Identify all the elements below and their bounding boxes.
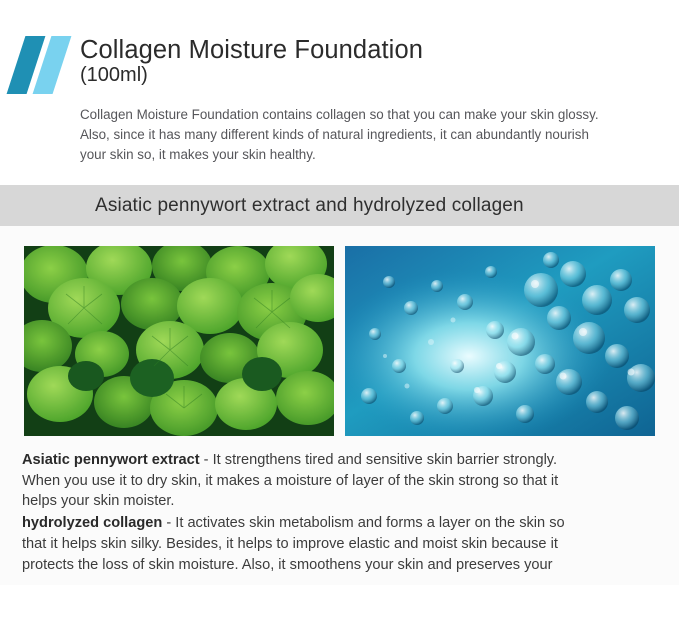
ingredient-line: It activates skin metabolism and forms a…	[175, 515, 564, 531]
ingredient-line: that it helps skin silky. Besides, it he…	[22, 534, 667, 555]
water-bubbles-photo	[345, 246, 655, 436]
ingredient-description-collagen: hydrolyzed collagen - It activates skin …	[22, 513, 667, 575]
asiatic-pennywort-leaves-photo	[24, 246, 334, 436]
product-volume: (100ml)	[80, 64, 659, 87]
section-banner: Asiatic pennywort extract and hydrolyzed…	[0, 185, 679, 226]
ingredient-term: hydrolyzed collagen	[22, 515, 162, 531]
ingredient-line: helps your skin moister.	[22, 491, 667, 512]
ingredient-line: It strengthens tired and sensitive skin …	[213, 452, 557, 468]
title-block: Collagen Moisture Foundation (100ml)	[80, 36, 659, 87]
intro-line: Also, since it has many different kinds …	[80, 125, 665, 145]
image-row	[0, 246, 679, 436]
detail-line: Asiatic pennywort extract - It strengthe…	[22, 450, 667, 471]
ingredient-line: When you use it to dry skin, it makes a …	[22, 471, 667, 492]
intro-line: Collagen Moisture Foundation contains co…	[80, 105, 665, 125]
content-panel: Asiatic pennywort extract - It strengthe…	[0, 226, 679, 585]
ingredient-description-pennywort: Asiatic pennywort extract - It strengthe…	[22, 450, 667, 512]
intro-line: your skin so, it makes your skin healthy…	[80, 145, 665, 165]
ingredient-line: protects the loss of skin moisture. Also…	[22, 555, 667, 576]
ingredient-term: Asiatic pennywort extract	[22, 452, 200, 468]
brand-logo-icon	[8, 36, 70, 94]
ingredient-separator: -	[200, 452, 213, 468]
detail-line: hydrolyzed collagen - It activates skin …	[22, 513, 667, 534]
page-header: Collagen Moisture Foundation (100ml) Col…	[0, 0, 679, 185]
intro-paragraph: Collagen Moisture Foundation contains co…	[80, 105, 665, 164]
page-title: Collagen Moisture Foundation	[80, 36, 659, 65]
section-banner-title: Asiatic pennywort extract and hydrolyzed…	[95, 195, 524, 217]
ingredient-descriptions: Asiatic pennywort extract - It strengthe…	[22, 450, 667, 575]
ingredient-separator: -	[162, 515, 175, 531]
